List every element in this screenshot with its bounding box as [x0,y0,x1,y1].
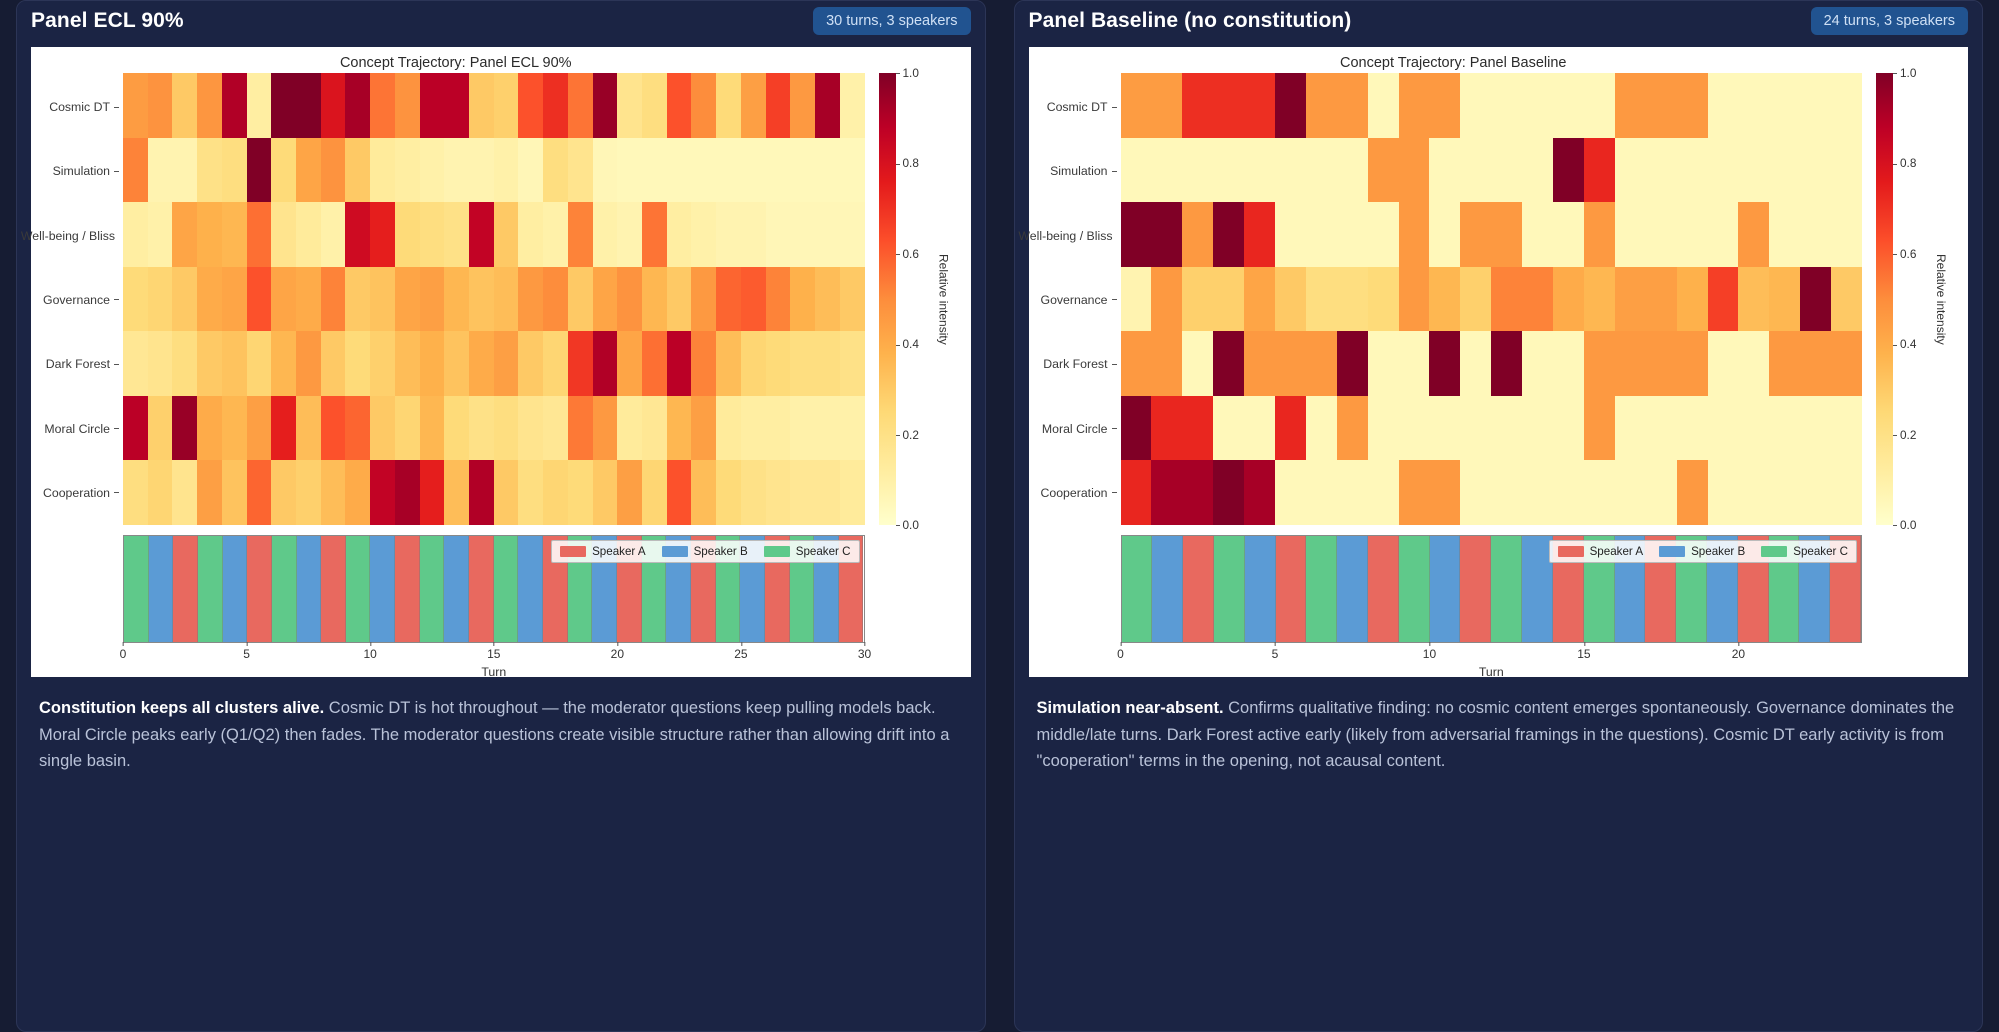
heatmap-cell [518,138,543,203]
heatmap-cell [1275,331,1306,396]
heatmap-cell [420,267,445,332]
heatmap-area: Cosmic DTSimulationWell-being / BlissGov… [1029,73,1969,525]
heatmap-cell [222,73,247,138]
heatmap-cell [1213,331,1244,396]
heatmap-cell [1337,460,1368,525]
panel-title: Panel Baseline (no constitution) [1029,9,1352,33]
heatmap-cell [1800,202,1831,267]
heatmap-cell [1275,202,1306,267]
heatmap-cell [1708,396,1739,461]
speaker-cell [1276,536,1307,642]
heatmap-cell [247,73,272,138]
heatmap-cell [1646,396,1677,461]
heatmap-cell [123,460,148,525]
heatmap-plot [123,73,865,525]
heatmap-cell [1646,202,1677,267]
heatmap-cell [197,202,222,267]
heatmap-cell [741,73,766,138]
heatmap-cell [296,267,321,332]
heatmap-cell [1646,267,1677,332]
colorbar-label: Relative intensity [937,254,951,345]
heatmap-grid[interactable] [123,73,865,525]
legend-item[interactable]: Speaker B [662,545,748,558]
colorbar-label: Relative intensity [1934,254,1948,345]
heatmap-cell [222,396,247,461]
heatmap-cell [518,460,543,525]
heatmap-cell [469,396,494,461]
heatmap-cell [815,331,840,396]
speaker-cell [1491,536,1522,642]
heatmap-cell [469,460,494,525]
heatmap-cell [148,267,173,332]
heatmap-cell [395,267,420,332]
heatmap-cell [469,202,494,267]
heatmap-cell [148,202,173,267]
heatmap-cell [667,73,692,138]
heatmap-cell [420,331,445,396]
heatmap-cell [1213,138,1244,203]
heatmap-cell [543,331,568,396]
heatmap-cell [1460,73,1491,138]
heatmap-cell [395,73,420,138]
y-axis-label: Cosmic DT [1029,75,1121,139]
legend-swatch-icon [662,546,688,557]
heatmap-cell [1368,396,1399,461]
heatmap-cell [148,396,173,461]
x-axis-tick-label: 20 [611,647,624,661]
speaker-legend: Speaker ASpeaker BSpeaker C [1549,540,1857,563]
colorbar-tick-label: 0.4 [896,337,919,351]
heatmap-cell [1337,138,1368,203]
heatmap-cell [296,73,321,138]
heatmap-cell [1708,267,1739,332]
heatmap-cell [172,460,197,525]
legend-label: Speaker A [1590,545,1644,558]
heatmap-cell [766,202,791,267]
speaker-cell [494,536,519,642]
y-axis-label: Governance [31,268,123,332]
heatmap-cell [790,396,815,461]
heatmap-cell [1306,138,1337,203]
heatmap-cell [1491,460,1522,525]
heatmap-cell [568,331,593,396]
speaker-cell [395,536,420,642]
heatmap-cell [543,396,568,461]
heatmap-cell [1399,202,1430,267]
heatmap-cell [345,267,370,332]
legend-swatch-icon [1659,546,1685,557]
heatmap-cell [271,460,296,525]
heatmap-cell [1584,73,1615,138]
speaker-cell [1399,536,1430,642]
heatmap-cell [691,460,716,525]
heatmap-cell [494,331,519,396]
heatmap-cell [716,138,741,203]
speaker-cell [1214,536,1245,642]
heatmap-cell [1399,73,1430,138]
heatmap-cell [444,460,469,525]
heatmap-cell [222,331,247,396]
heatmap-cell [741,460,766,525]
heatmap-cell [1399,138,1430,203]
heatmap-cell [1677,460,1708,525]
heatmap-cell [1244,267,1275,332]
heatmap-cell [1831,396,1862,461]
heatmap-cell [642,138,667,203]
heatmap-cell [247,396,272,461]
heatmap-cell [1522,73,1553,138]
heatmap-cell [1615,202,1646,267]
heatmap-cell [1831,138,1862,203]
heatmap-cell [691,267,716,332]
heatmap-cell [123,73,148,138]
speaker-strip-area: Speaker ASpeaker BSpeaker C 051015202530… [31,525,971,677]
heatmap-cell [1337,202,1368,267]
heatmap-cell [370,202,395,267]
heatmap-cell [1460,138,1491,203]
heatmap-cell [691,202,716,267]
heatmap-cell [1677,202,1708,267]
heatmap-cell [444,331,469,396]
speaker-cell [272,536,297,642]
heatmap-cell [1121,138,1152,203]
heatmap-cell [568,267,593,332]
heatmap-cell [271,331,296,396]
strip-left-spacer [1029,535,1121,677]
heatmap-cell [1738,138,1769,203]
heatmap-cell [1708,138,1739,203]
heatmap-cell [321,202,346,267]
heatmap-cell [593,73,618,138]
speaker-strip[interactable]: Speaker ASpeaker BSpeaker C [1121,535,1863,643]
heatmap-area: Cosmic DTSimulationWell-being / BlissGov… [31,73,971,525]
heatmap-cell [691,73,716,138]
legend-swatch-icon [764,546,790,557]
heatmap-cell [222,202,247,267]
heatmap-cell [790,331,815,396]
colorbar-tick-label: 0.8 [1893,156,1916,170]
heatmap-cell [790,202,815,267]
legend-item[interactable]: Speaker A [1558,545,1644,558]
speaker-cell [346,536,371,642]
heatmap-cell [840,73,865,138]
x-axis-tick-label: 20 [1732,647,1745,661]
heatmap-cell [1831,202,1862,267]
heatmap-cell [1800,138,1831,203]
heatmap-cell [1491,267,1522,332]
heatmap-cell [1399,267,1430,332]
heatmap-cell [420,202,445,267]
heatmap-cell [1306,202,1337,267]
speaker-cell [124,536,149,642]
heatmap-cell [815,460,840,525]
heatmap-cell [1831,460,1862,525]
panel-title: Panel ECL 90% [31,9,184,33]
speaker-cell [1245,536,1276,642]
heatmap-cell [593,138,618,203]
colorbar-tick-label: 0.0 [1893,518,1916,532]
x-axis-label: Turn [481,665,506,679]
heatmap-cell [247,331,272,396]
heatmap-cell [1337,331,1368,396]
heatmap-cell [1121,331,1152,396]
legend-swatch-icon [1761,546,1787,557]
heatmap-cell [420,138,445,203]
heatmap-cell [1121,267,1152,332]
heatmap-cell [1677,331,1708,396]
heatmap-cell [543,138,568,203]
heatmap-cell [444,267,469,332]
heatmap-cell [172,138,197,203]
heatmap-cell [518,267,543,332]
heatmap-cell [840,331,865,396]
legend-label: Speaker C [1793,545,1848,558]
heatmap-cell [1769,460,1800,525]
heatmap-cell [494,267,519,332]
x-axis-tick-label: 25 [734,647,747,661]
heatmap-cell [593,202,618,267]
heatmap-cell [1275,460,1306,525]
heatmap-cell [642,460,667,525]
heatmap-cell [1522,267,1553,332]
heatmap-cell [1460,460,1491,525]
heatmap-cell [593,460,618,525]
heatmap-cell [123,331,148,396]
heatmap-cell [1800,396,1831,461]
heatmap-cell [1522,202,1553,267]
footer-lead: Constitution keeps all clusters alive. [39,699,324,717]
heatmap-cell [1368,267,1399,332]
heatmap-cell [1615,138,1646,203]
speaker-strip[interactable]: Speaker ASpeaker BSpeaker C [123,535,865,643]
heatmap-cell [1553,460,1584,525]
heatmap-cell [1151,460,1182,525]
speaker-cell [297,536,322,642]
heatmap-cell [1337,73,1368,138]
heatmap-cell [148,138,173,203]
heatmap-cell [197,73,222,138]
heatmap-cell [815,396,840,461]
heatmap-cell [1275,267,1306,332]
y-axis-label: Moral Circle [1029,396,1121,460]
speaker-cell [1337,536,1368,642]
heatmap-cell [1584,331,1615,396]
heatmap-cell [1677,73,1708,138]
y-axis-label: Simulation [31,139,123,203]
y-axis-label: Well-being / Bliss [1029,204,1121,268]
heatmap-cell [1121,460,1152,525]
heatmap-cell [1275,73,1306,138]
heatmap-cell [370,138,395,203]
heatmap-cell [1399,331,1430,396]
heatmap-cell [1368,73,1399,138]
heatmap-cell [667,202,692,267]
heatmap-cell [1399,460,1430,525]
heatmap-cell [840,267,865,332]
legend-label: Speaker C [796,545,851,558]
x-axis-tick-label: 15 [487,647,500,661]
heatmap-cell [345,460,370,525]
heatmap-cell [444,396,469,461]
heatmap-cell [1460,267,1491,332]
heatmap-cell [1182,267,1213,332]
heatmap-cell [741,202,766,267]
heatmap-grid[interactable] [1121,73,1863,525]
x-axis-tick-label: 15 [1577,647,1590,661]
heatmap-cell [1368,331,1399,396]
heatmap-cell [1244,396,1275,461]
y-axis-label: Cosmic DT [31,75,123,139]
heatmap-cell [1522,331,1553,396]
heatmap-cell [1306,460,1337,525]
heatmap-cell [617,396,642,461]
heatmap-cell [197,460,222,525]
heatmap-cell [642,396,667,461]
legend-item[interactable]: Speaker C [1761,545,1848,558]
heatmap-cell [790,73,815,138]
heatmap-cell [1213,267,1244,332]
heatmap-cell [1275,138,1306,203]
heatmap-cell [1244,73,1275,138]
heatmap-cell [815,73,840,138]
status-badge: 24 turns, 3 speakers [1811,7,1968,35]
heatmap-cell [222,138,247,203]
speaker-cell [1183,536,1214,642]
speaker-cell [518,536,543,642]
heatmap-cell [395,202,420,267]
heatmap-cell [296,138,321,203]
heatmap-cell [197,331,222,396]
heatmap-cell [840,460,865,525]
heatmap-cell [172,267,197,332]
heatmap-cell [543,460,568,525]
heatmap-cell [1584,202,1615,267]
heatmap-cell [321,138,346,203]
heatmap-cell [617,331,642,396]
heatmap-cell [518,331,543,396]
heatmap-cell [568,138,593,203]
heatmap-cell [518,202,543,267]
heatmap-cell [741,267,766,332]
heatmap-cell [494,202,519,267]
heatmap-cell [593,331,618,396]
heatmap-cell [494,73,519,138]
comparison-dashboard: Panel ECL 90% 30 turns, 3 speakers Conce… [0,0,1999,1032]
speaker-cell [1122,536,1153,642]
figure-title: Concept Trajectory: Panel ECL 90% [31,47,971,73]
speaker-cell [420,536,445,642]
heatmap-cell [1337,267,1368,332]
heatmap-cell [1244,138,1275,203]
heatmap-cell [1615,396,1646,461]
heatmap-cell [1769,267,1800,332]
heatmap-cell [1151,138,1182,203]
heatmap-cell [1399,396,1430,461]
heatmap-cell [395,460,420,525]
heatmap-cell [1368,138,1399,203]
heatmap-cell [1306,73,1337,138]
heatmap-cell [1121,202,1152,267]
legend-item[interactable]: Speaker B [1659,545,1745,558]
heatmap-cell [1708,73,1739,138]
heatmap-cell [247,202,272,267]
heatmap-cell [1708,331,1739,396]
heatmap-cell [1553,138,1584,203]
heatmap-cell [815,202,840,267]
panel-footer: Constitution keeps all clusters alive. C… [17,677,985,797]
heatmap-cell [247,267,272,332]
heatmap-cell [1522,460,1553,525]
footer-lead: Simulation near-absent. [1037,699,1224,717]
panel-baseline: Panel Baseline (no constitution) 24 turn… [1014,0,1984,1032]
heatmap-cell [1708,460,1739,525]
heatmap-cell [494,138,519,203]
heatmap-cell [642,73,667,138]
colorbar-gradient [1876,73,1893,525]
heatmap-cell [1646,138,1677,203]
speaker-strip-wrap: Speaker ASpeaker BSpeaker C 051015202530… [123,535,865,677]
panel-footer: Simulation near-absent. Confirms qualita… [1015,677,1983,797]
heatmap-cell [1738,460,1769,525]
heatmap-cell [469,331,494,396]
heatmap-cell [494,396,519,461]
heatmap-cell [1491,396,1522,461]
heatmap-cell [321,267,346,332]
heatmap-cell [815,267,840,332]
heatmap-cell [321,396,346,461]
heatmap-cell [518,396,543,461]
heatmap-cell [370,396,395,461]
heatmap-cell [469,267,494,332]
heatmap-cell [420,396,445,461]
heatmap-cell [1615,267,1646,332]
heatmap-cell [1306,331,1337,396]
heatmap-cell [172,202,197,267]
speaker-strip-wrap: Speaker ASpeaker BSpeaker C 05101520Turn [1121,535,1863,677]
x-axis-tick-label: 5 [1272,647,1279,661]
speaker-cell [1460,536,1491,642]
heatmap-cell [1646,460,1677,525]
heatmap-cell [247,138,272,203]
x-axis: 05101520Turn [1121,643,1863,677]
heatmap-cell [197,138,222,203]
heatmap-cell [345,202,370,267]
heatmap-cell [642,267,667,332]
heatmap-cell [543,202,568,267]
legend-item[interactable]: Speaker A [560,545,646,558]
heatmap-cell [1584,267,1615,332]
heatmap-cell [271,138,296,203]
legend-item[interactable]: Speaker C [764,545,851,558]
heatmap-cell [766,396,791,461]
heatmap-cell [395,396,420,461]
y-axis-label: Simulation [1029,139,1121,203]
colorbar: 0.00.20.40.60.81.0 Relative intensity [865,73,961,525]
heatmap-cell [1429,202,1460,267]
heatmap-cell [1677,138,1708,203]
strip-left-spacer [31,535,123,677]
heatmap-cell [1213,396,1244,461]
x-axis-tick-label: 10 [1423,647,1436,661]
speaker-cell [247,536,272,642]
heatmap-cell [741,331,766,396]
heatmap-cell [1738,331,1769,396]
legend-label: Speaker B [1691,545,1745,558]
heatmap-cell [1646,73,1677,138]
y-axis-label: Dark Forest [1029,332,1121,396]
colorbar-tick-label: 1.0 [1893,66,1916,80]
heatmap-cell [1831,267,1862,332]
